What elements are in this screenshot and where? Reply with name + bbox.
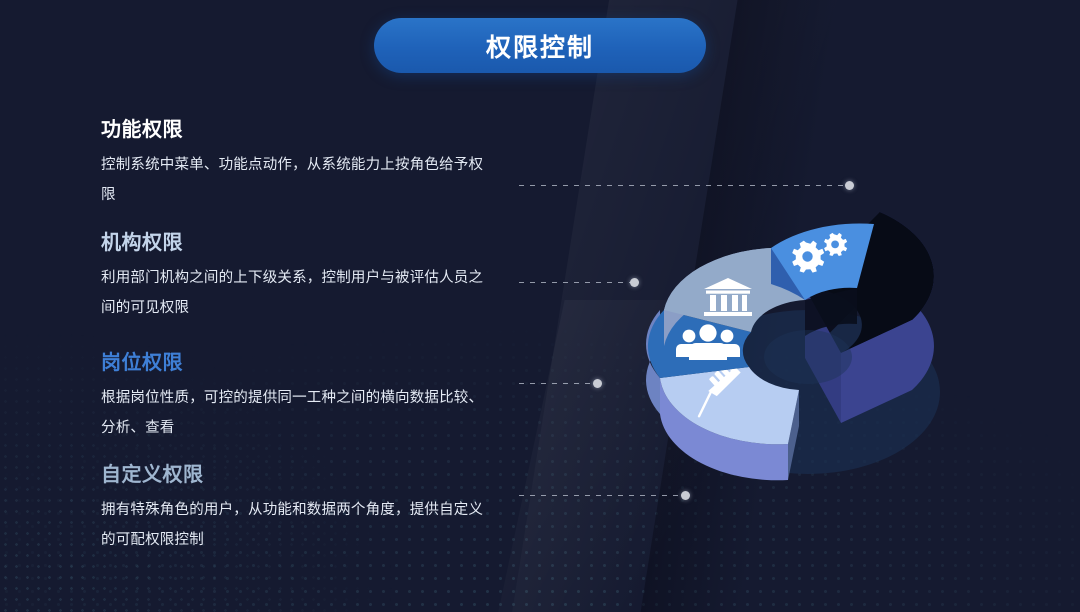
slide-title-pill: 权限控制: [374, 18, 706, 73]
donut-inner-hole: [764, 330, 852, 384]
permission-donut-chart: [612, 160, 1032, 530]
permission-item-custom: 自定义权限 拥有特殊角色的用户，从功能和数据两个角度，提供自定义的可配权限控制: [101, 464, 493, 555]
permission-item-heading: 功能权限: [101, 119, 493, 141]
permission-item-function: 功能权限 控制系统中菜单、功能点动作，从系统能力上按角色给予权限: [101, 119, 493, 210]
permission-item-organization: 机构权限 利用部门机构之间的上下级关系，控制用户与被评估人员之间的可见权限: [101, 232, 493, 323]
permission-item-body: 根据岗位性质，可控的提供同一工种之间的横向数据比较、分析、查看: [101, 383, 493, 443]
permission-item-heading: 机构权限: [101, 232, 493, 254]
connector-line-position: [519, 383, 597, 384]
permission-control-slide: 权限控制 功能权限 控制系统中菜单、功能点动作，从系统能力上按角色给予权限 机构…: [0, 0, 1080, 612]
permission-item-body: 利用部门机构之间的上下级关系，控制用户与被评估人员之间的可见权限: [101, 263, 493, 323]
connector-dot: [593, 379, 602, 388]
permission-item-body: 控制系统中菜单、功能点动作，从系统能力上按角色给予权限: [101, 150, 493, 210]
permission-item-body: 拥有特殊角色的用户，从功能和数据两个角度，提供自定义的可配权限控制: [101, 495, 493, 555]
permission-item-position: 岗位权限 根据岗位性质，可控的提供同一工种之间的横向数据比较、分析、查看: [101, 352, 493, 443]
permission-item-heading: 自定义权限: [101, 464, 493, 486]
page-title: 权限控制: [486, 28, 594, 64]
permission-item-heading: 岗位权限: [101, 352, 493, 374]
